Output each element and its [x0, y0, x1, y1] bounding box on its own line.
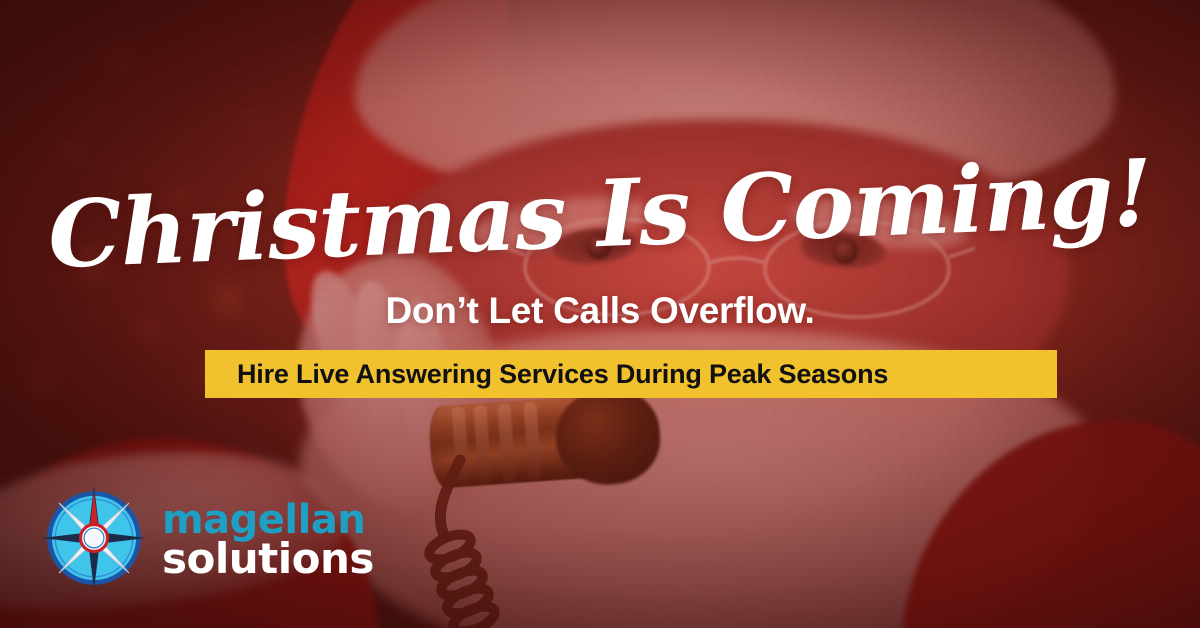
christmas-promo-banner: Christmas Is Coming! Don’t Let Calls Ove… — [0, 0, 1200, 628]
subheadline: Don’t Let Calls Overflow. — [0, 292, 1200, 331]
cta-label: Hire Live Answering Services During Peak… — [205, 359, 888, 390]
logo-wordmark: magellan solutions — [162, 497, 374, 580]
logo-brand-bottom: solutions — [162, 539, 374, 579]
magellan-solutions-logo[interactable]: magellan solutions — [40, 483, 330, 593]
headline: Christmas Is Coming! — [0, 145, 1200, 283]
compass-rose-icon — [40, 484, 148, 592]
cta-banner[interactable]: Hire Live Answering Services During Peak… — [205, 350, 1057, 398]
banner-content: Christmas Is Coming! Don’t Let Calls Ove… — [0, 0, 1200, 628]
